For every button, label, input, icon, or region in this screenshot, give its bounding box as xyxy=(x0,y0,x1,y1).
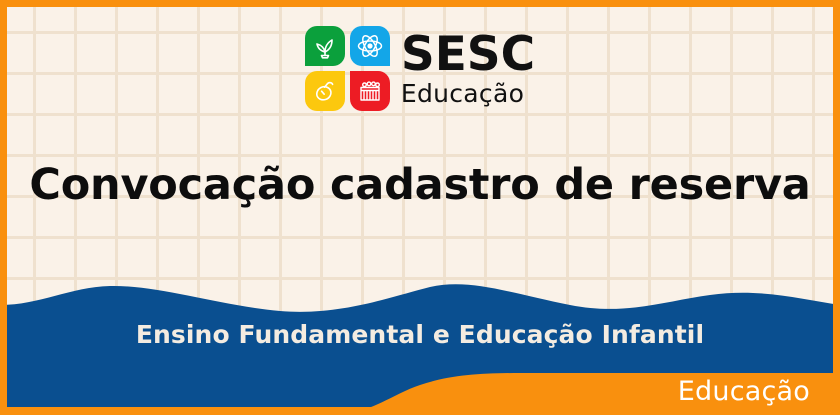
seedling-icon xyxy=(305,26,345,66)
page-title: Convocação cadastro de reserva xyxy=(0,160,840,210)
logo-inner: SESC Educação xyxy=(305,26,535,111)
logo-brand-name: SESC xyxy=(401,31,535,78)
computer-mouse-icon xyxy=(305,71,345,111)
sesc-logo: SESC Educação xyxy=(0,26,840,111)
page-subtitle: Ensino Fundamental e Educação Infantil xyxy=(0,320,840,349)
atom-icon xyxy=(350,26,390,66)
poster-canvas: SESC Educação Convocação cadastro de res… xyxy=(0,0,840,415)
logo-wordmark: SESC Educação xyxy=(399,31,535,106)
footer-label: Educação xyxy=(678,376,810,407)
logo-tile-grid xyxy=(305,26,390,111)
piano-icon xyxy=(350,71,390,111)
logo-brand-subtitle: Educação xyxy=(401,81,535,106)
